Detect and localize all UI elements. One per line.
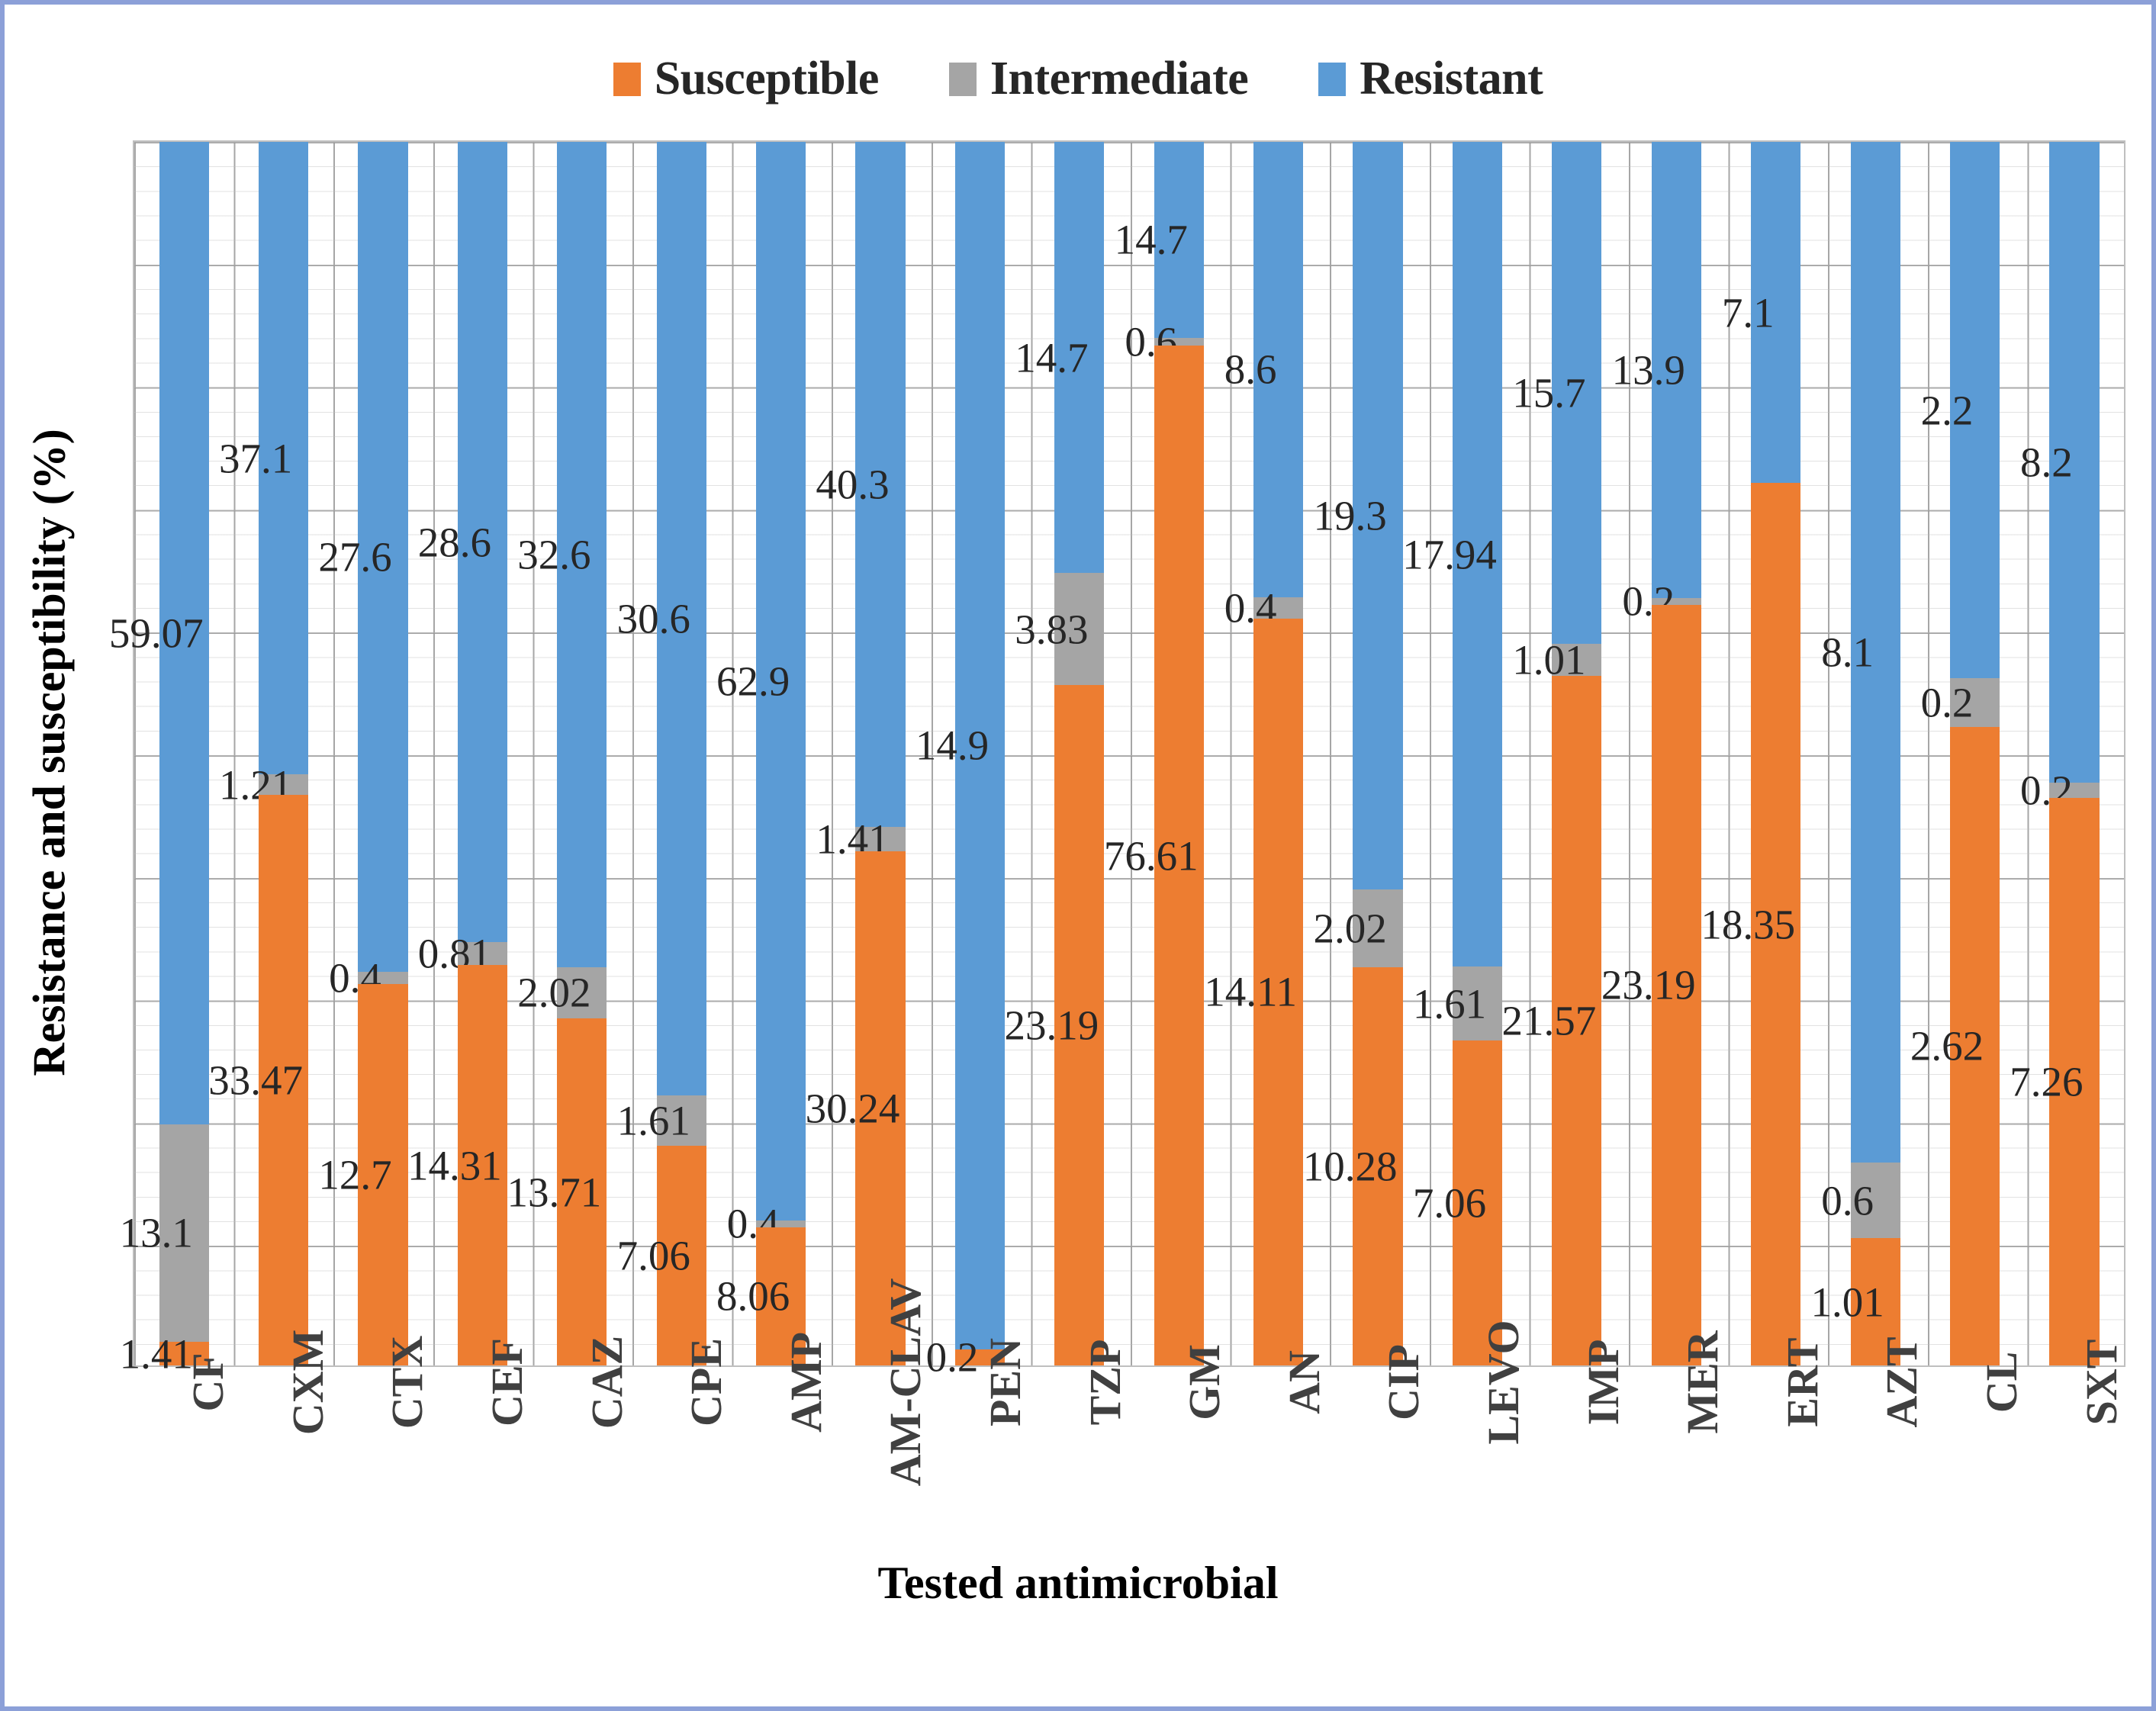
x-tick-levo: LEVO <box>1428 1378 1528 1553</box>
data-label-susceptible: 14.31 <box>407 1144 502 1186</box>
stacked-bar: 62.90.48.06 <box>756 142 806 1365</box>
bar-segment-resistant[interactable]: 27.6 <box>358 142 407 972</box>
bar-segment-resistant[interactable]: 8.6 <box>1253 142 1303 597</box>
x-tick-cl: CL <box>1926 1378 2026 1553</box>
x-tick-label: AM-CLAV <box>880 1278 931 1487</box>
x-tick-label: AMP <box>780 1332 832 1433</box>
data-label-susceptible: 2.62 <box>1910 1025 1984 1067</box>
bar-column-gm[interactable]: 14.70.676.61 <box>1129 142 1228 1365</box>
x-tick-cip: CIP <box>1328 1378 1428 1553</box>
bar-column-amp[interactable]: 62.90.48.06 <box>731 142 830 1365</box>
x-tick-mer: MER <box>1627 1378 1727 1553</box>
stacked-bar: 15.71.0121.57 <box>1552 142 1601 1365</box>
bar-segment-resistant[interactable]: 13.9 <box>1652 142 1701 598</box>
legend-label-resistant: Resistant <box>1360 52 1543 106</box>
bar-segment-intermediate[interactable]: 2.02 <box>1353 889 1402 968</box>
data-label-resistant: 8.2 <box>2020 441 2073 483</box>
bar-segment-susceptible[interactable]: 33.47 <box>259 795 308 1365</box>
data-label-susceptible: 12.7 <box>318 1153 391 1195</box>
stacked-bar: 8.20.27.26 <box>2049 142 2099 1365</box>
data-label-intermediate: 1.61 <box>1413 983 1486 1024</box>
bar-segment-susceptible[interactable]: 12.7 <box>358 984 407 1366</box>
data-label-susceptible: 0.2 <box>926 1336 979 1378</box>
bar-segment-susceptible[interactable]: 7.26 <box>2049 798 2099 1365</box>
data-label-susceptible: 30.24 <box>806 1087 900 1129</box>
stacked-bar: 8.60.414.11 <box>1253 142 1303 1365</box>
bar-segment-susceptible[interactable]: 7.06 <box>657 1146 706 1365</box>
bar-segment-resistant[interactable]: 59.07 <box>159 142 209 1124</box>
stacked-bar: 27.60.412.7 <box>358 142 407 1365</box>
data-label-resistant: 13.9 <box>1612 349 1685 391</box>
x-tick-label: AZT <box>1876 1336 1927 1427</box>
plot-area: 59.0713.11.4137.11.2133.4727.60.412.728.… <box>133 140 2125 1367</box>
bar-segment-susceptible[interactable]: 23.19 <box>1054 685 1104 1365</box>
legend-item-susceptible[interactable]: Susceptible <box>613 52 879 106</box>
bar-segment-resistant[interactable]: 32.6 <box>557 142 607 967</box>
bar-segment-intermediate[interactable]: 0.2 <box>2049 783 2099 798</box>
bar-segment-resistant[interactable]: 40.3 <box>855 142 905 827</box>
data-label-resistant: 62.9 <box>716 660 790 702</box>
x-tick-imp: IMP <box>1527 1378 1627 1553</box>
stacked-bar: 28.60.8114.31 <box>458 142 507 1365</box>
bar-segment-resistant[interactable]: 62.9 <box>756 142 806 1221</box>
bar-column-pen[interactable]: 14.90.2 <box>930 142 1029 1365</box>
bar-segment-resistant[interactable]: 17.94 <box>1453 142 1502 966</box>
x-tick-label: ERT <box>1777 1337 1828 1426</box>
data-label-susceptible: 7.06 <box>617 1234 690 1276</box>
bar-segment-susceptible[interactable]: 14.11 <box>1253 619 1303 1365</box>
legend-swatch-intermediate <box>949 63 977 96</box>
bar-segment-intermediate[interactable]: 0.4 <box>756 1221 806 1227</box>
data-label-susceptible: 1.01 <box>1810 1281 1884 1323</box>
y-axis-title-text: Resistance and susceptibility (%) <box>24 429 76 1076</box>
bar-segment-intermediate[interactable]: 13.1 <box>159 1124 209 1343</box>
x-tick-label: CPE <box>681 1338 732 1426</box>
data-label-susceptible: 21.57 <box>1502 1000 1597 1042</box>
bar-segment-intermediate[interactable]: 3.83 <box>1054 573 1104 685</box>
x-tick-pen: PEN <box>930 1378 1030 1553</box>
bar-column-tzp[interactable]: 14.73.8323.19 <box>1030 142 1129 1365</box>
bar-segment-resistant[interactable]: 19.3 <box>1353 142 1402 889</box>
bar-segment-intermediate[interactable]: 0.6 <box>1851 1163 1900 1238</box>
stacked-bar: 8.10.61.01 <box>1851 142 1900 1365</box>
bar-segment-intermediate[interactable]: 0.6 <box>1154 338 1204 346</box>
data-label-resistant: 15.7 <box>1512 371 1585 413</box>
x-tick-ctx: CTX <box>332 1378 432 1553</box>
x-tick-amp: AMP <box>731 1378 831 1553</box>
bar-series-container: 59.0713.11.4137.11.2133.4727.60.412.728.… <box>134 142 2124 1365</box>
legend-item-resistant[interactable]: Resistant <box>1318 52 1543 106</box>
x-tick-label: AN <box>1279 1350 1330 1414</box>
x-tick-label: LEVO <box>1478 1320 1529 1444</box>
bar-segment-resistant[interactable]: 8.2 <box>2049 142 2099 783</box>
legend-swatch-resistant <box>1318 63 1346 96</box>
data-label-susceptible: 13.71 <box>507 1171 601 1213</box>
bar-column-cf[interactable]: 59.0713.11.41 <box>134 142 233 1365</box>
data-label-susceptible: 23.19 <box>1004 1005 1099 1047</box>
bar-segment-intermediate[interactable]: 1.41 <box>855 827 905 851</box>
bar-segment-susceptible[interactable]: 18.35 <box>1751 483 1800 1365</box>
x-tick-an: AN <box>1229 1378 1329 1553</box>
data-label-susceptible: 33.47 <box>208 1060 303 1102</box>
y-axis-title: Resistance and susceptibility (%) <box>15 142 84 1362</box>
bar-column-caz[interactable]: 32.62.0213.71 <box>533 142 632 1365</box>
x-tick-label: PEN <box>980 1338 1031 1426</box>
data-label-resistant: 2.2 <box>1921 389 1974 431</box>
bar-segment-resistant[interactable]: 30.6 <box>657 142 706 1095</box>
data-label-resistant: 17.94 <box>1402 533 1497 575</box>
data-label-resistant: 30.6 <box>617 597 690 639</box>
bar-segment-intermediate[interactable]: 1.61 <box>1453 966 1502 1040</box>
bar-segment-resistant[interactable]: 8.1 <box>1851 142 1900 1163</box>
bar-segment-intermediate[interactable]: 0.4 <box>1253 597 1303 619</box>
bar-segment-resistant[interactable]: 28.6 <box>458 142 507 942</box>
data-label-resistant: 8.1 <box>1821 632 1874 674</box>
x-tick-azt: AZT <box>1826 1378 1926 1553</box>
bar-segment-intermediate[interactable]: 1.21 <box>259 774 308 795</box>
data-label-susceptible: 7.26 <box>2010 1061 2083 1103</box>
data-label-susceptible: 23.19 <box>1601 964 1696 1006</box>
legend-swatch-susceptible <box>613 63 641 96</box>
bar-segment-intermediate[interactable]: 0.2 <box>1652 598 1701 605</box>
data-label-resistant: 40.3 <box>816 464 889 506</box>
bar-segment-resistant[interactable]: 14.7 <box>1054 142 1104 573</box>
x-tick-label: CIP <box>1378 1344 1429 1420</box>
data-label-intermediate: 0.2 <box>1921 681 1974 723</box>
bar-segment-susceptible[interactable]: 14.31 <box>458 965 507 1365</box>
x-tick-sxt: SXT <box>2026 1378 2125 1553</box>
stacked-bar: 7.118.35 <box>1751 142 1800 1365</box>
x-tick-label: IMP <box>1578 1340 1629 1426</box>
data-label-resistant: 37.1 <box>219 437 292 479</box>
x-tick-label: SXT <box>2076 1340 2127 1426</box>
stacked-bar: 30.61.617.06 <box>657 142 706 1365</box>
bar-segment-resistant[interactable]: 14.9 <box>955 142 1005 1349</box>
stacked-bar: 40.31.4130.24 <box>855 142 905 1365</box>
data-label-susceptible: 10.28 <box>1303 1146 1398 1188</box>
data-label-resistant: 14.7 <box>1015 336 1088 378</box>
x-tick-gm: GM <box>1129 1378 1229 1553</box>
bar-segment-resistant[interactable]: 15.7 <box>1552 142 1601 644</box>
x-tick-caz: CAZ <box>531 1378 631 1553</box>
data-label-resistant: 59.07 <box>109 612 204 654</box>
bar-column-azt[interactable]: 8.10.61.01 <box>1826 142 1925 1365</box>
data-label-resistant: 27.6 <box>318 535 391 577</box>
legend-label-susceptible: Susceptible <box>655 52 879 106</box>
bar-column-cpe[interactable]: 30.61.617.06 <box>632 142 731 1365</box>
bar-segment-intermediate[interactable]: 0.2 <box>1950 678 2000 727</box>
x-tick-label: CAZ <box>581 1336 632 1429</box>
bar-segment-susceptible[interactable]: 10.28 <box>1353 967 1402 1365</box>
x-tick-cxm: CXM <box>233 1378 333 1553</box>
data-label-resistant: 32.6 <box>517 534 590 576</box>
stacked-bar: 19.32.0210.28 <box>1353 142 1402 1365</box>
bar-segment-intermediate[interactable]: 0.4 <box>358 972 407 984</box>
x-tick-tzp: TZP <box>1029 1378 1129 1553</box>
stacked-bar: 14.90.2 <box>955 142 1005 1365</box>
bar-segment-intermediate[interactable]: 0.81 <box>458 942 507 965</box>
stacked-bar: 17.941.617.06 <box>1453 142 1502 1365</box>
bar-segment-susceptible[interactable]: 23.19 <box>1652 605 1701 1365</box>
bar-segment-resistant[interactable]: 37.1 <box>259 142 308 774</box>
data-label-intermediate: 2.02 <box>1313 907 1386 949</box>
bar-segment-susceptible[interactable]: 21.57 <box>1552 676 1601 1365</box>
bar-segment-susceptible[interactable]: 2.62 <box>1950 727 2000 1365</box>
x-tick-label: CTX <box>381 1336 433 1429</box>
data-label-intermediate: 2.02 <box>517 972 590 1014</box>
x-tick-cf: CF <box>133 1378 233 1553</box>
bar-segment-intermediate[interactable]: 2.02 <box>557 967 607 1018</box>
data-label-resistant: 8.6 <box>1224 349 1277 391</box>
bar-column-mer[interactable]: 13.90.223.19 <box>1627 142 1726 1365</box>
data-label-intermediate: 13.1 <box>120 1212 193 1254</box>
chart-legend: Susceptible Intermediate Resistant <box>5 52 2151 106</box>
bar-column-sxt[interactable]: 8.20.27.26 <box>2025 142 2124 1365</box>
legend-label-intermediate: Intermediate <box>990 52 1248 106</box>
stacked-bar: 2.20.22.62 <box>1950 142 2000 1365</box>
x-tick-label: CEF <box>481 1338 533 1426</box>
x-axis-tick-labels: CFCXMCTXCEFCAZCPEAMPAM-CLAVPENTZPGMANCIP… <box>133 1378 2125 1553</box>
chart-figure: Susceptible Intermediate Resistant Resis… <box>0 0 2156 1711</box>
bar-segment-resistant[interactable]: 2.2 <box>1950 142 2000 678</box>
data-label-resistant: 28.6 <box>418 521 491 563</box>
bar-column-ert[interactable]: 7.118.35 <box>1726 142 1826 1365</box>
stacked-bar: 32.62.0213.71 <box>557 142 607 1365</box>
bar-column-levo[interactable]: 17.941.617.06 <box>1427 142 1527 1365</box>
stacked-bar: 37.11.2133.47 <box>259 142 308 1365</box>
stacked-bar: 59.0713.11.41 <box>159 142 209 1365</box>
x-tick-label: CF <box>182 1352 233 1411</box>
x-tick-label: GM <box>1179 1344 1230 1420</box>
data-label-susceptible: 76.61 <box>1104 835 1199 876</box>
x-tick-am-clav: AM-CLAV <box>830 1378 930 1553</box>
x-tick-ert: ERT <box>1727 1378 1827 1553</box>
bar-segment-intermediate[interactable]: 1.01 <box>1552 644 1601 676</box>
x-tick-label: CL <box>1976 1352 2027 1414</box>
data-label-susceptible: 14.11 <box>1204 971 1297 1013</box>
x-tick-cef: CEF <box>432 1378 532 1553</box>
bar-segment-susceptible[interactable]: 13.71 <box>557 1018 607 1365</box>
bar-segment-susceptible[interactable]: 7.06 <box>1453 1040 1502 1365</box>
data-label-susceptible: 18.35 <box>1701 903 1795 945</box>
legend-item-intermediate[interactable]: Intermediate <box>949 52 1248 106</box>
data-label-intermediate: 1.01 <box>1512 639 1585 681</box>
data-label-susceptible: 7.06 <box>1413 1182 1486 1224</box>
data-label-resistant: 19.3 <box>1313 494 1386 536</box>
stacked-bar: 14.70.676.61 <box>1154 142 1204 1365</box>
data-label-susceptible: 8.06 <box>716 1275 790 1317</box>
x-tick-label: MER <box>1677 1330 1728 1433</box>
bar-segment-intermediate[interactable]: 1.61 <box>657 1095 706 1146</box>
data-label-intermediate: 0.6 <box>1821 1179 1874 1221</box>
stacked-bar: 14.73.8323.19 <box>1054 142 1104 1365</box>
bar-column-imp[interactable]: 15.71.0121.57 <box>1527 142 1627 1365</box>
data-label-resistant: 14.7 <box>1115 219 1188 261</box>
bar-column-cl[interactable]: 2.20.22.62 <box>1925 142 2024 1365</box>
x-axis-title: Tested antimicrobial <box>5 1557 2151 1610</box>
x-tick-label: CXM <box>282 1330 333 1436</box>
data-label-resistant: 14.9 <box>915 725 989 767</box>
bar-segment-susceptible[interactable]: 76.61 <box>1154 346 1204 1365</box>
bar-segment-resistant[interactable]: 7.1 <box>1751 142 1800 483</box>
bar-segment-resistant[interactable]: 14.7 <box>1154 142 1204 338</box>
data-label-intermediate: 3.83 <box>1015 608 1088 650</box>
stacked-bar: 13.90.223.19 <box>1652 142 1701 1365</box>
data-label-resistant: 7.1 <box>1722 291 1775 333</box>
x-tick-label: TZP <box>1080 1340 1131 1426</box>
x-tick-cpe: CPE <box>631 1378 731 1553</box>
data-label-intermediate: 1.61 <box>617 1099 690 1141</box>
